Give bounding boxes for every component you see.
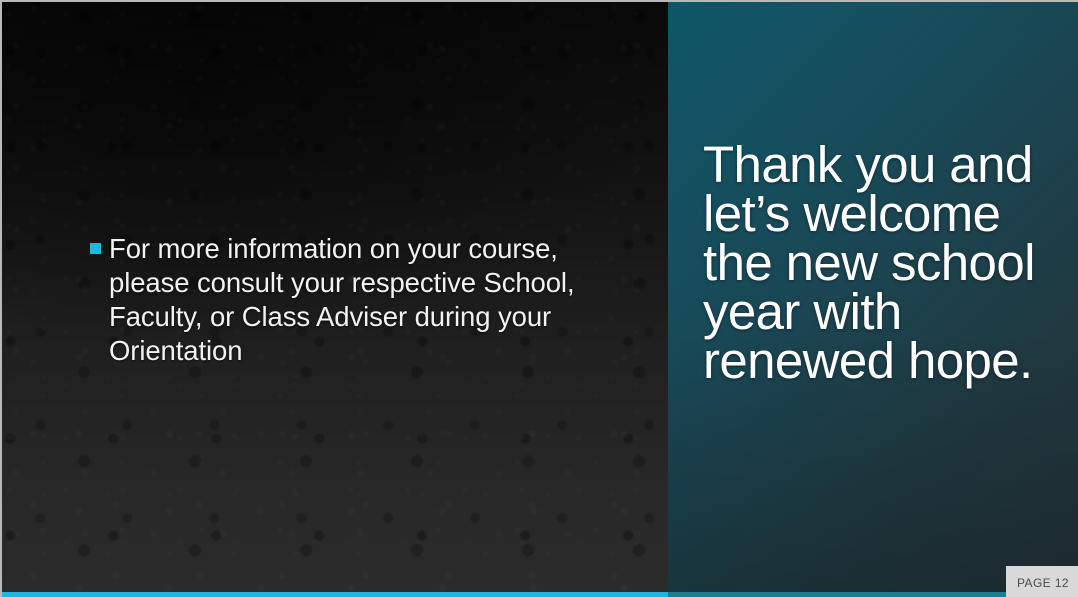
slide-heading: Thank you and let’s welcome the new scho… [703,140,1063,385]
presentation-slide: For more information on your course, ple… [0,0,1078,597]
page-number-badge: PAGE 12 [1006,566,1078,597]
list-item: For more information on your course, ple… [90,232,610,368]
square-bullet-icon [90,243,101,254]
body-text-block: For more information on your course, ple… [90,232,610,368]
bottom-accent-bar [2,592,668,597]
body-text: For more information on your course, ple… [109,233,575,366]
page-number-label: PAGE 12 [1017,576,1069,590]
